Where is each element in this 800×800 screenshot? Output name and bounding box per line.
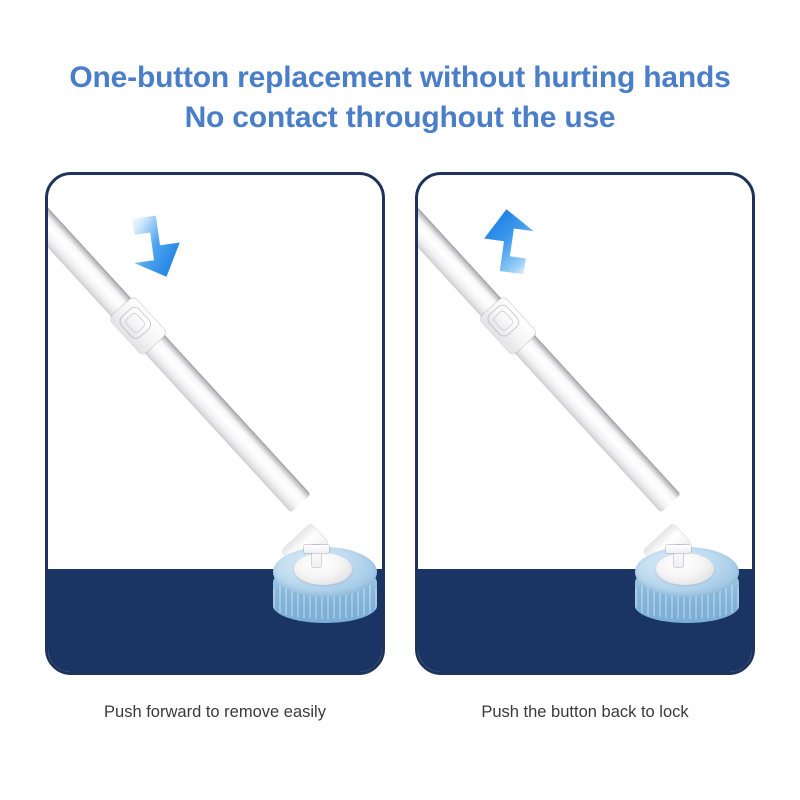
mop-head: [266, 527, 382, 637]
panel-illustration-left: [48, 175, 382, 672]
push-back-panel: [415, 172, 755, 675]
release-button-face: [492, 309, 515, 332]
caption-push-forward: Push forward to remove easily: [45, 703, 385, 722]
arrow-up-left-icon: [466, 197, 552, 283]
push-forward-panel: [45, 172, 385, 675]
mop-lock-clip-head: [666, 545, 691, 553]
mop-lock-clip-head: [304, 545, 329, 553]
page-title-line-1: One-button replacement without hurting h…: [0, 58, 800, 98]
panel-illustration-right: [418, 175, 752, 672]
arrow-down-right-icon: [126, 201, 212, 287]
caption-push-back: Push the button back to lock: [415, 703, 755, 722]
mop-connector-plate: [656, 553, 714, 585]
release-button-face: [124, 311, 147, 334]
page-title-line-2: No contact throughout the use: [0, 98, 800, 138]
page-title: One-button replacement without hurting h…: [0, 58, 800, 137]
infographic-root: One-button replacement without hurting h…: [0, 0, 800, 800]
mop-head: [628, 527, 748, 637]
mop-connector-plate: [294, 553, 352, 585]
